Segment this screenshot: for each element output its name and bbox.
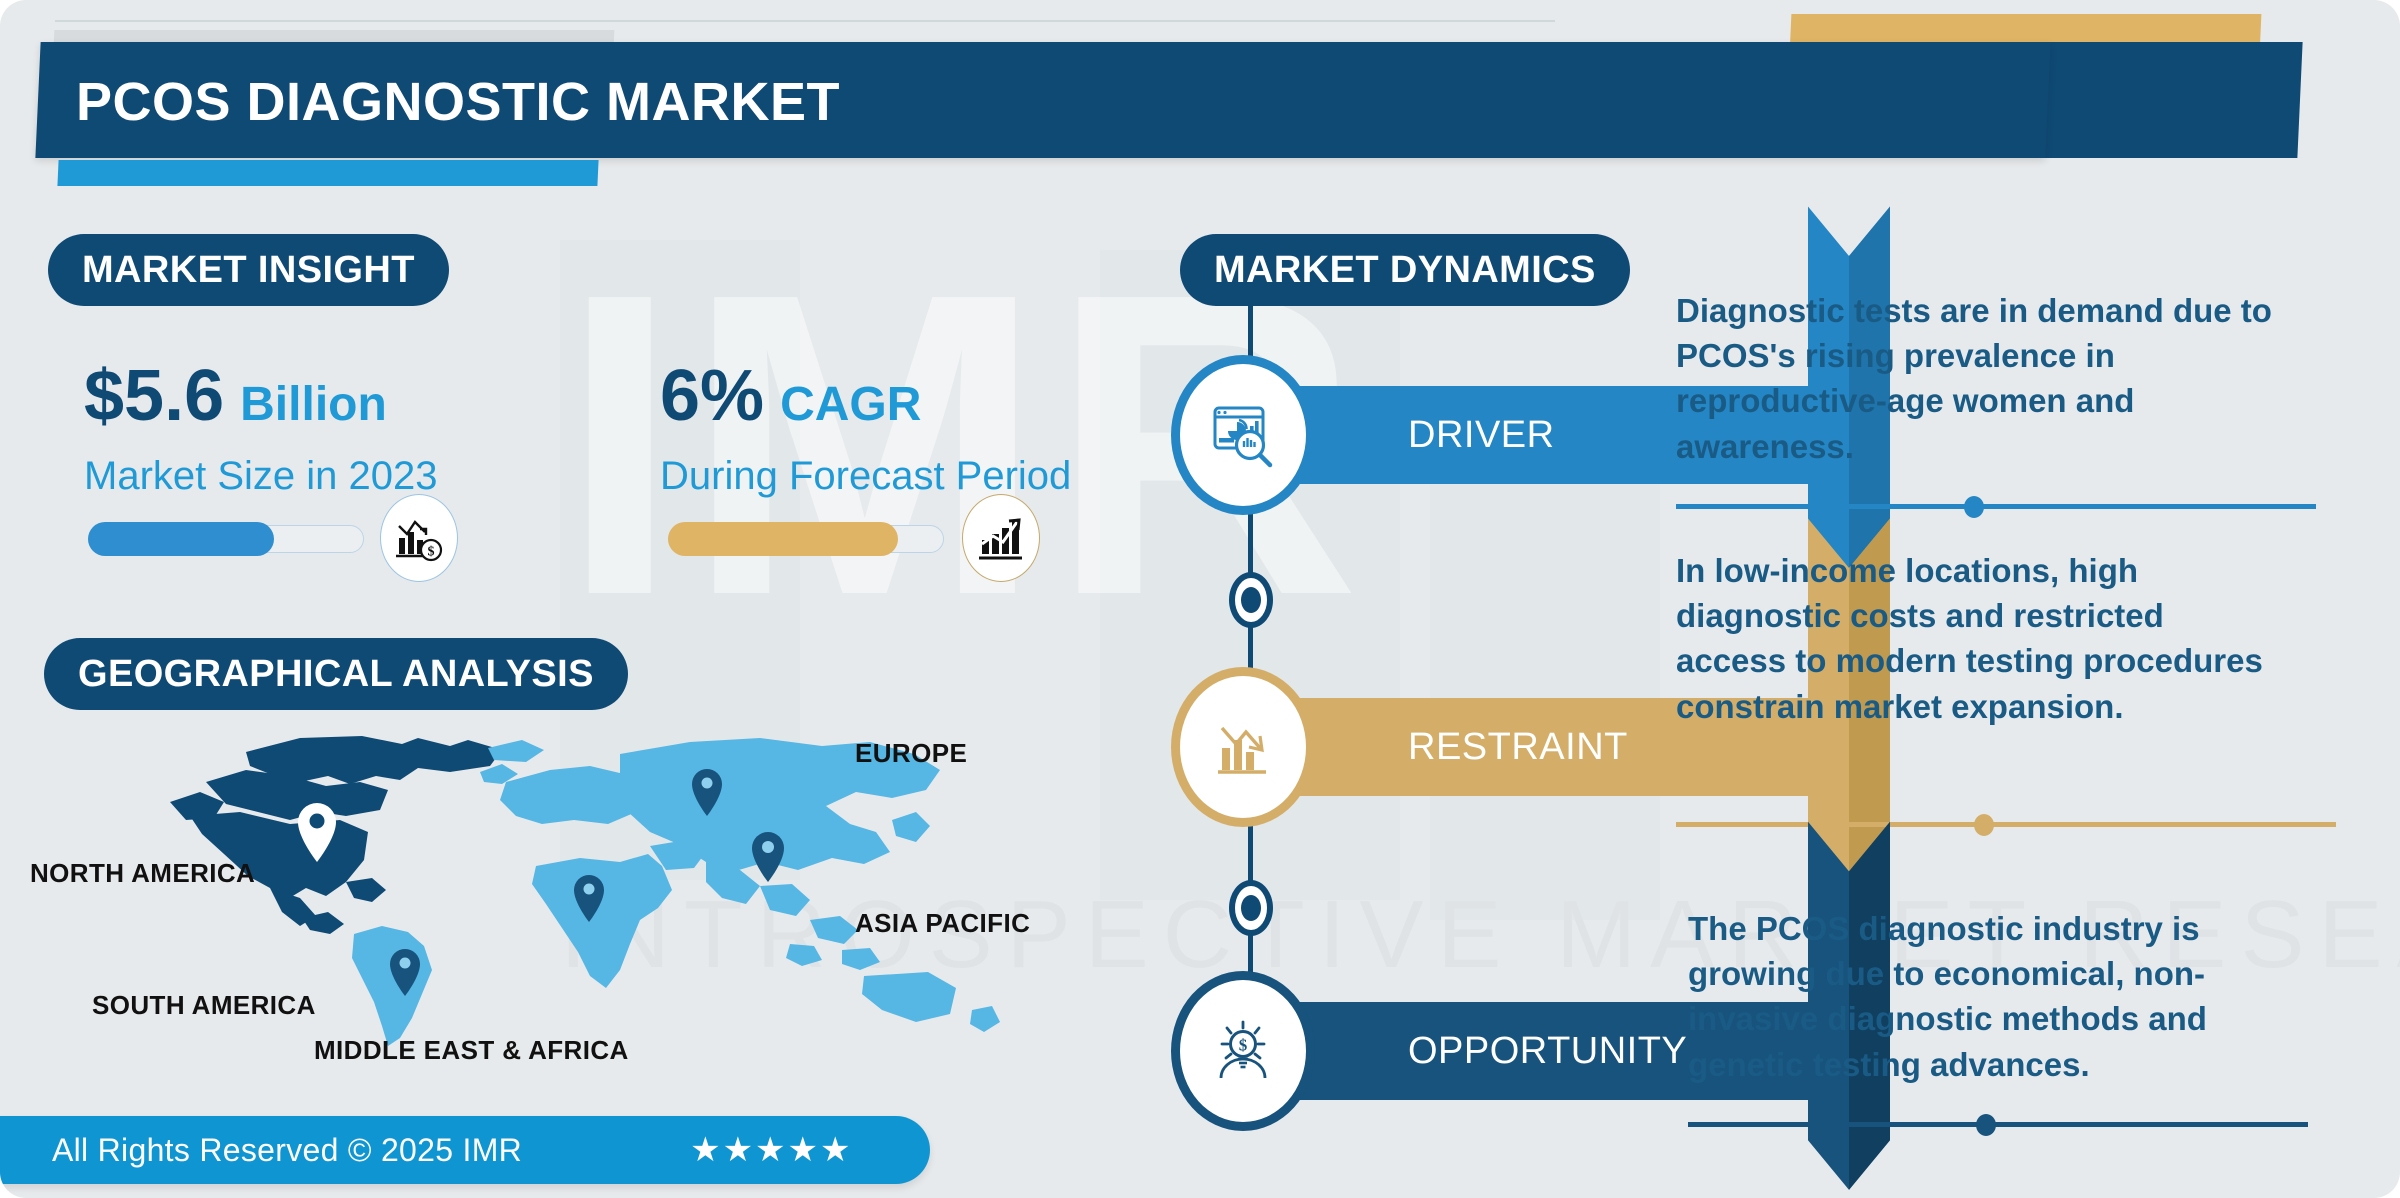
section-pill-market-insight: MARKET INSIGHT [48, 234, 449, 306]
growth-chart-arrow-icon [962, 494, 1040, 582]
header-hairline [55, 20, 1555, 22]
svg-text:$: $ [1239, 1036, 1248, 1055]
dynamics-text-restraint: In low-income locations, high diagnostic… [1676, 548, 2276, 729]
region-middle-east-africa [532, 840, 706, 988]
dynamics-underline-opportunity [1688, 1122, 2308, 1127]
dynamics-dot-opportunity [1976, 1114, 1996, 1136]
stat-caption: Market Size in 2023 [84, 454, 438, 499]
stat-value-row: $5.6 Billion [84, 360, 438, 432]
progress-bar-cagr [668, 522, 944, 556]
progress-bar-market-size [88, 522, 364, 556]
stat-caption: During Forecast Period [660, 454, 1071, 499]
stat-value: $5.6 [84, 360, 224, 432]
bg-panel-right [1430, 420, 1660, 920]
dynamics-underline-driver [1676, 504, 2316, 509]
lightbulb-dollar-icon: $ [1180, 980, 1306, 1122]
region-north-america [170, 736, 502, 934]
dynamics-text-driver: Diagnostic tests are in demand due to PC… [1676, 288, 2276, 469]
dashboard-magnifier-icon [1180, 364, 1306, 506]
dynamics-dot-driver [1964, 496, 1984, 518]
map-label-europe: EUROPE [855, 738, 967, 769]
declining-bar-chart-icon [1180, 676, 1306, 818]
stat-value-row: 6% CAGR [660, 360, 1071, 432]
dynamics-underline-restraint [1676, 822, 2336, 827]
progress-fill [88, 522, 274, 556]
rating-stars: ★★★★★ [690, 1130, 852, 1170]
stat-cagr: 6% CAGR During Forecast Period [660, 360, 1071, 499]
map-label-asia-pacific: ASIA PACIFIC [855, 908, 1030, 939]
svg-text:$: $ [428, 545, 435, 560]
stat-unit: CAGR [780, 381, 921, 429]
bar-chart-dollar-icon: $ [380, 494, 458, 582]
timeline-node-1 [1229, 572, 1273, 628]
region-south-america [352, 926, 432, 1046]
map-label-north-america: NORTH AMERICA [30, 858, 255, 889]
timeline-node-2 [1229, 880, 1273, 936]
map-marker-asia-pacific [752, 832, 784, 882]
header-underline-accent [57, 160, 598, 186]
footer-bar: All Rights Reserved © 2025 IMR ★★★★★ [0, 1116, 930, 1184]
dynamics-text-opportunity: The PCOS diagnostic industry is growing … [1688, 906, 2288, 1087]
copyright-text: All Rights Reserved © 2025 IMR [52, 1132, 522, 1169]
region-europe [480, 764, 642, 824]
stat-market-size: $5.6 Billion Market Size in 2023 [84, 360, 438, 499]
page-title: PCOS DIAGNOSTIC MARKET [76, 62, 840, 142]
map-label-middle-east-africa: MIDDLE EAST & AFRICA [314, 1035, 629, 1066]
map-label-south-america: SOUTH AMERICA [92, 990, 316, 1021]
section-pill-market-dynamics: MARKET DYNAMICS [1180, 234, 1630, 306]
stat-unit: Billion [240, 381, 387, 429]
progress-fill [668, 522, 898, 556]
dynamics-dot-restraint [1974, 814, 1994, 836]
stat-value: 6% [660, 360, 764, 432]
infographic-canvas: IMR INTROSPECTIVE MARKET RESEARCH PCOS D… [0, 0, 2400, 1198]
section-pill-geographical-analysis: GEOGRAPHICAL ANALYSIS [44, 638, 628, 710]
